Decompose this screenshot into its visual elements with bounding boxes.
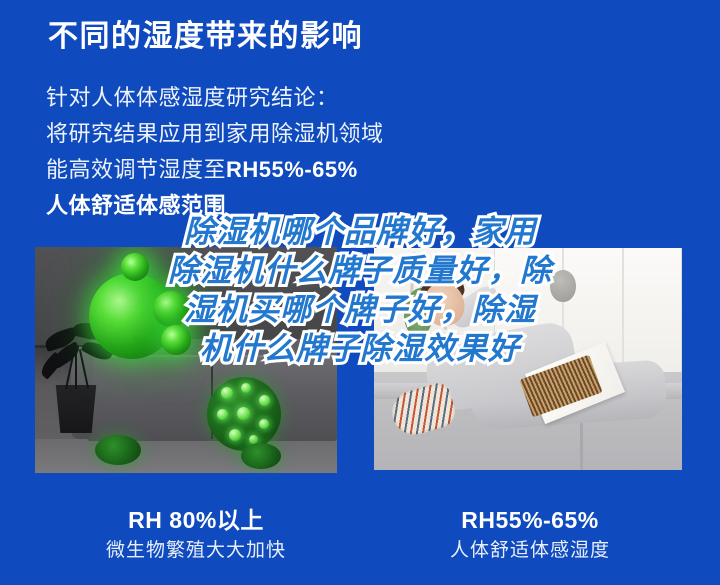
caption-left-subtext: 微生物繁殖大大加快 [46,537,346,565]
microbe-bump [229,429,241,441]
microbe-bump [259,419,269,429]
caption-left: RH 80%以上 微生物繁殖大大加快 [46,505,346,565]
overlay-headline: 除湿机哪个品牌好，家用 除湿机什么牌子质量好，除 湿机买哪个牌子好，除湿 机什么… [0,212,720,368]
humidity-infographic-poster: 不同的湿度带来的影响 针对人体体感湿度研究结论： 将研究结果应用到家用除湿机领域… [0,0,720,585]
microbe-bump [221,387,233,399]
microbe-bump [217,409,228,420]
intro-line-3-range: RH55%-65% [226,157,358,182]
intro-line-3-prefix: 能高效调节湿度至 [46,157,226,182]
overlay-line-1: 除湿机哪个品牌好，家用 [0,212,720,251]
overlay-line-2: 除湿机什么牌子质量好，除 [0,251,720,290]
microbe-bump [259,395,270,406]
overlay-line-4: 机什么牌子除湿效果好 [0,329,720,368]
microbe-bump [237,407,250,420]
intro-text-block: 针对人体体感湿度研究结论： 将研究结果应用到家用除湿机领域 能高效调节湿度至RH… [46,80,384,188]
microbe-dim-floor [95,435,141,465]
microbe-dim-floor-2 [241,443,281,469]
intro-line-1: 针对人体体感湿度研究结论： [46,80,384,116]
intro-line-2: 将研究结果应用到家用除湿机领域 [46,116,384,152]
caption-right-subtext: 人体舒适体感湿度 [380,537,680,565]
caption-left-heading: RH 80%以上 [46,505,346,535]
caption-right: RH55%-65% 人体舒适体感湿度 [380,505,680,565]
intro-line-3: 能高效调节湿度至RH55%-65% [46,152,384,188]
microbe-dim-large [207,377,281,451]
page-title: 不同的湿度带来的影响 [48,17,363,57]
overlay-line-3: 湿机买哪个牌子好，除湿 [0,290,720,329]
dark-floor [35,439,337,473]
caption-right-heading: RH55%-65% [380,505,680,535]
microbe-bump [241,383,251,393]
plant-pot [53,385,99,433]
